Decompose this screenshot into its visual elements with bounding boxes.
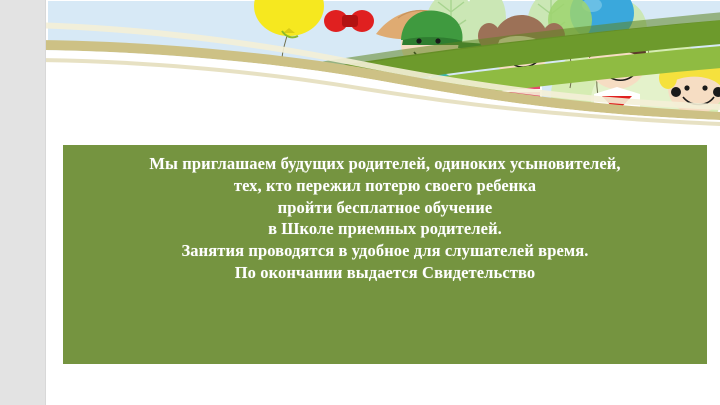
announcement-line-4: в Школе приемных родителей. bbox=[77, 218, 693, 240]
announcement-line-2: тех, кто пережил потерю своего ребенка bbox=[77, 175, 693, 197]
announcement-line-6: По окончании выдается Свидетельство bbox=[77, 262, 693, 284]
viewer-left-gutter bbox=[0, 0, 45, 405]
announcement-text-box: Мы приглашаем будущих родителей, одиноки… bbox=[63, 145, 707, 364]
slide-canvas: Мы приглашаем будущих родителей, одиноки… bbox=[45, 0, 720, 405]
announcement-line-1: Мы приглашаем будущих родителей, одиноки… bbox=[77, 153, 693, 175]
slide-viewer: Мы приглашаем будущих родителей, одиноки… bbox=[0, 0, 720, 405]
announcement-line-5: Занятия проводятся в удобное для слушате… bbox=[77, 240, 693, 262]
announcement-line-3: пройти бесплатное обучение bbox=[77, 197, 693, 219]
children-balloons-header-illustration bbox=[46, 0, 720, 132]
